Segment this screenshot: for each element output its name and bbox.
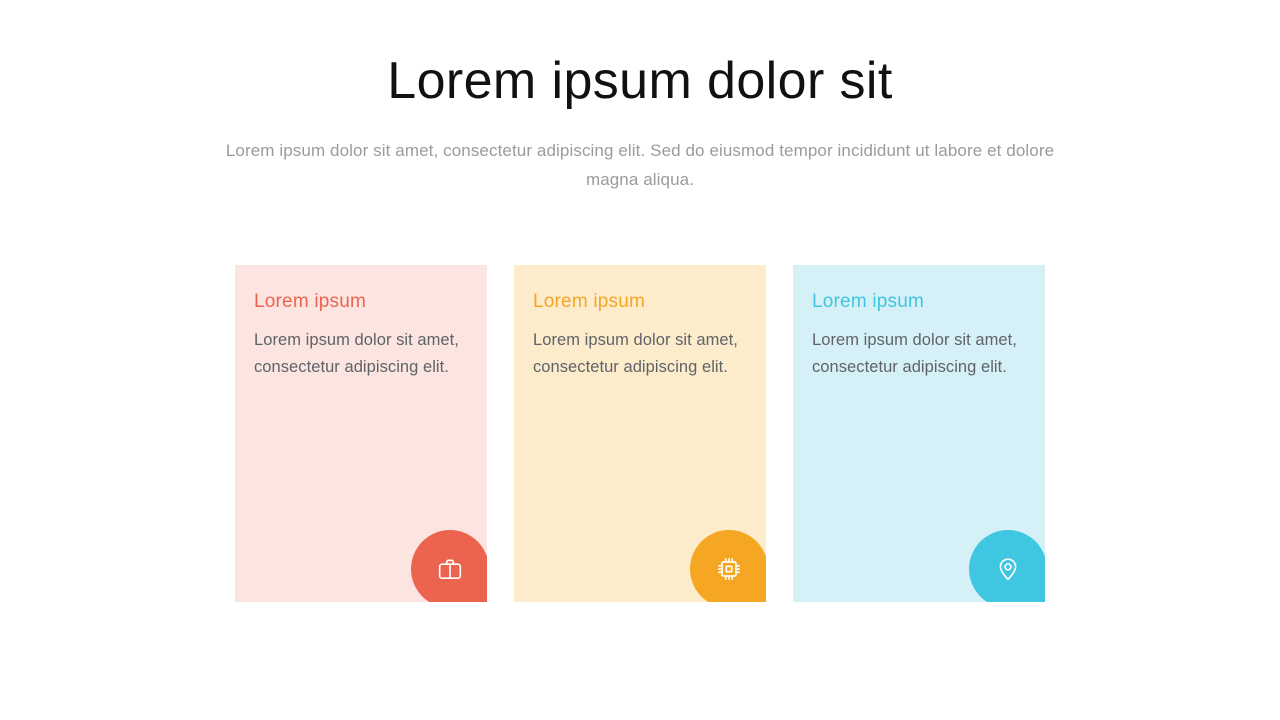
card-title: Lorem ipsum [254, 289, 473, 315]
slide-canvas: Lorem ipsum dolor sit Lorem ipsum dolor … [0, 0, 1280, 720]
briefcase-icon [437, 556, 463, 582]
cpu-chip-icon [716, 556, 742, 582]
card-icon-badge[interactable] [411, 530, 487, 602]
feature-card-row: Lorem ipsum Lorem ipsum dolor sit amet, … [235, 265, 1045, 602]
card-title: Lorem ipsum [812, 289, 1031, 315]
feature-card[interactable]: Lorem ipsum Lorem ipsum dolor sit amet, … [793, 265, 1045, 602]
map-pin-icon [995, 556, 1021, 582]
page-subtitle: Lorem ipsum dolor sit amet, consectetur … [200, 136, 1080, 194]
card-icon-badge[interactable] [690, 530, 766, 602]
feature-card[interactable]: Lorem ipsum Lorem ipsum dolor sit amet, … [235, 265, 487, 602]
card-body-text: Lorem ipsum dolor sit amet, consectetur … [254, 327, 464, 380]
feature-card[interactable]: Lorem ipsum Lorem ipsum dolor sit amet, … [514, 265, 766, 602]
card-body-text: Lorem ipsum dolor sit amet, consectetur … [812, 327, 1022, 380]
page-title: Lorem ipsum dolor sit [0, 48, 1280, 114]
slide-header: Lorem ipsum dolor sit Lorem ipsum dolor … [0, 48, 1280, 194]
card-title: Lorem ipsum [533, 289, 752, 315]
card-icon-badge[interactable] [969, 530, 1045, 602]
card-body-text: Lorem ipsum dolor sit amet, consectetur … [533, 327, 743, 380]
